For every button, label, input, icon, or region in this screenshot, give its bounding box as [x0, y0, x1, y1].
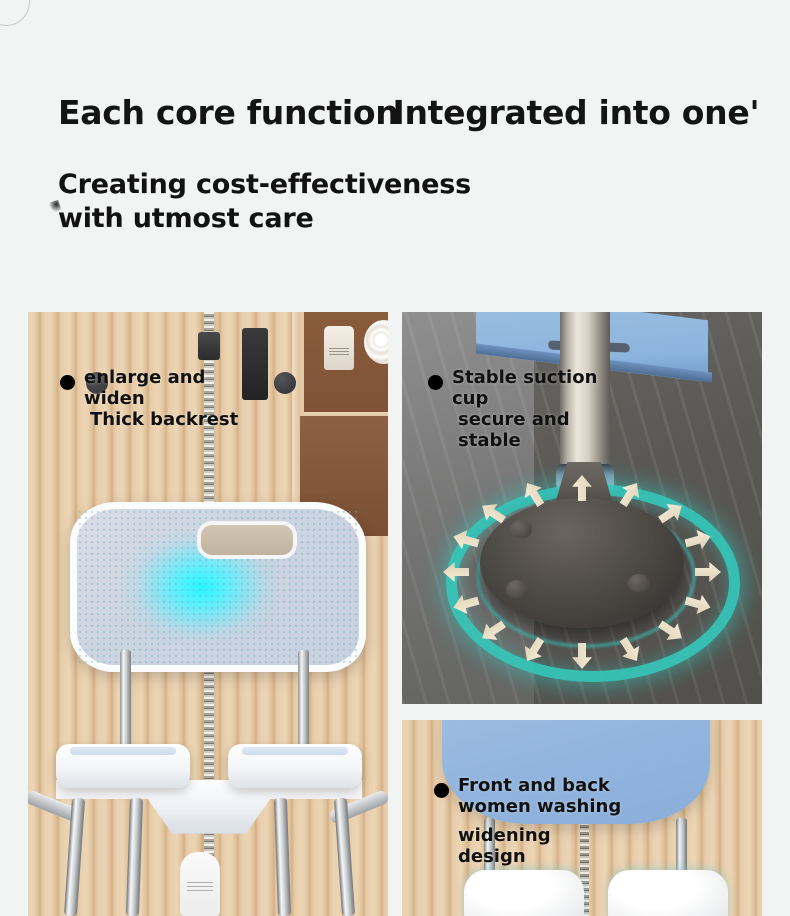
callout-text-widening-design: Front and back women washing widening de… [458, 776, 621, 868]
seat-pad-right [228, 744, 362, 788]
callout-line-1: enlarge and [84, 367, 205, 388]
seat-backrest-board [70, 502, 366, 672]
callout-line-3: widening [458, 826, 621, 847]
page-subheadline: Creating cost-effectiveness with utmost … [58, 168, 471, 236]
seat-cushion-right [608, 870, 728, 916]
bullet-dot-icon [60, 375, 75, 390]
seat-bridge [56, 780, 362, 836]
callout-line-2: widen [84, 389, 238, 410]
headline-segment-primary: Each core function [58, 93, 399, 132]
callout-line-3: secure and [452, 410, 597, 431]
floor-bottle [180, 852, 220, 916]
subheadline-line-2: with utmost care [58, 202, 471, 236]
page-headline: Each core functionIntegrated into one' [58, 96, 759, 129]
bullet-dot-icon [428, 375, 443, 390]
subheadline-line-1: Creating cost-effectiveness [58, 169, 471, 200]
callout-thick-backrest: enlarge and widen Thick backrest [60, 368, 238, 431]
shower-hose-head [198, 332, 220, 360]
shower-seat-assembly [46, 744, 372, 840]
headline-segment-secondary: Integrated into one' [393, 93, 760, 132]
seat-pad-left [56, 744, 190, 788]
callout-line-2: cup [452, 389, 597, 410]
callout-stable-suction-cup: Stable suction cup secure and stable [428, 368, 597, 452]
seat-cushion-left [464, 870, 584, 916]
callout-line-4: stable [452, 431, 597, 452]
callout-line-1: Front and back [458, 775, 610, 796]
shelf-bottle [324, 326, 354, 370]
callout-line-4: design [458, 847, 621, 868]
callout-text-thick-backrest: enlarge and widen Thick backrest [84, 368, 238, 431]
callout-line-2: women washing [458, 797, 621, 818]
header-block: Each core functionIntegrated into one' C… [0, 0, 790, 312]
backrest-handle-cutout [197, 521, 297, 559]
callout-text-stable-suction-cup: Stable suction cup secure and stable [452, 368, 597, 452]
callout-widening-design: Front and back women washing widening de… [434, 776, 621, 868]
callout-line-1: Stable suction [452, 367, 597, 388]
wall-control-panel [242, 328, 268, 400]
callout-line-3: Thick backrest [84, 410, 238, 431]
bullet-dot-icon [434, 783, 449, 798]
seat-knob-right [274, 372, 296, 394]
